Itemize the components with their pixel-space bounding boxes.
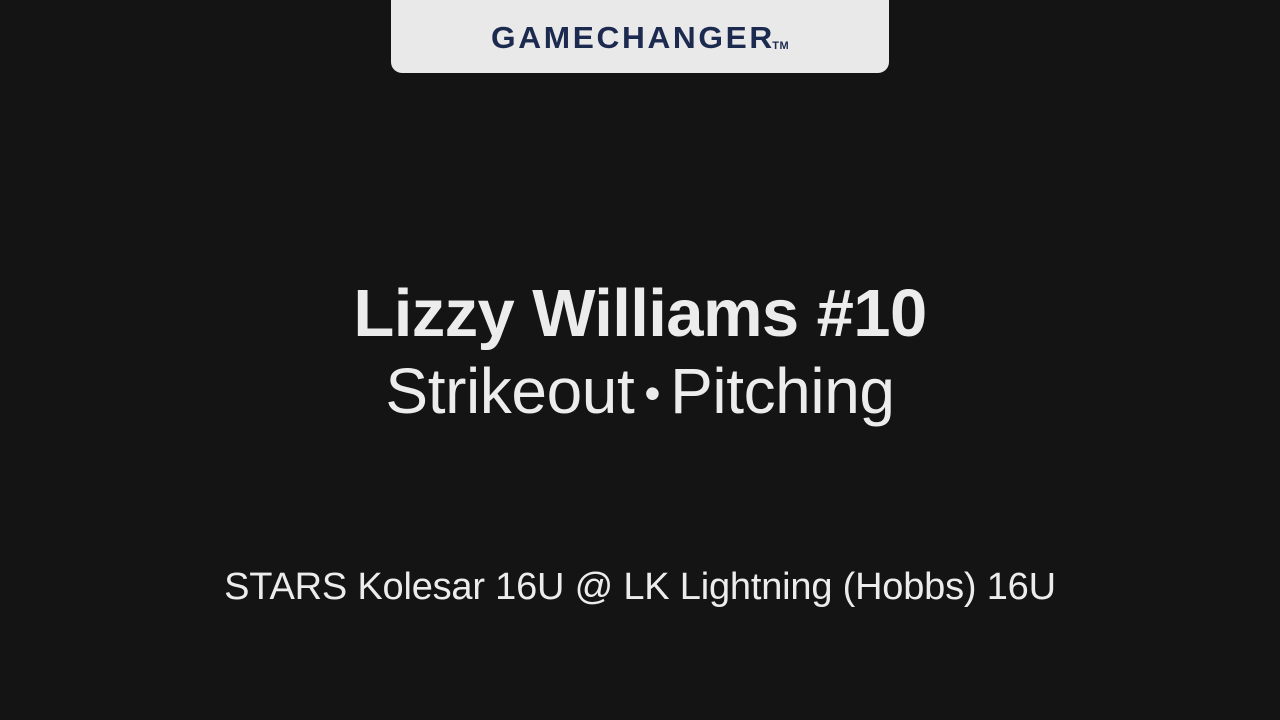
bullet-separator-icon: • — [634, 356, 670, 430]
logo-lockup: GAMECHANGER TM — [491, 22, 789, 53]
event-category-label: Pitching — [670, 355, 895, 427]
highlight-card: GAMECHANGER TM Lizzy Williams #10 Strike… — [0, 0, 1280, 720]
player-name-and-number: Lizzy Williams #10 — [0, 278, 1280, 350]
gamechanger-logo-banner: GAMECHANGER TM — [391, 0, 889, 73]
gamechanger-wordmark: GAMECHANGER — [491, 22, 775, 53]
trademark-icon: TM — [772, 41, 789, 52]
game-matchup-label: STARS Kolesar 16U @ LK Lightning (Hobbs)… — [0, 565, 1280, 609]
highlight-text-block: Lizzy Williams #10 Strikeout•Pitching — [0, 278, 1280, 434]
event-type-label: Strikeout — [385, 355, 634, 427]
event-description: Strikeout•Pitching — [0, 354, 1280, 434]
